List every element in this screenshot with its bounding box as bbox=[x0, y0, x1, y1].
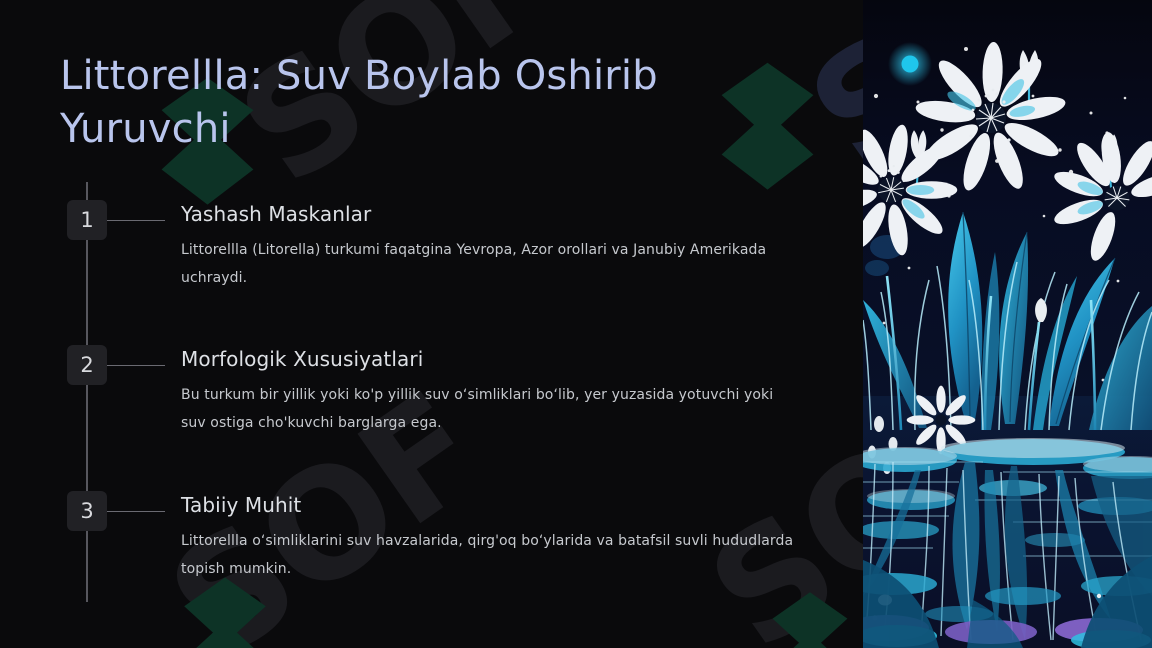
timeline-item-body: Yashash Maskanlar Littorellla (Litorella… bbox=[181, 200, 821, 292]
timeline-item-body: Tabiiy Muhit Littorellla o‘simliklarini … bbox=[181, 491, 821, 583]
slide-content: Littorellla: Suv Boylab Oshirib Yuruvchi… bbox=[0, 0, 863, 648]
timeline-item-text: Littorellla o‘simliklarini suv havzalari… bbox=[181, 527, 801, 583]
step-number-badge: 1 bbox=[67, 200, 107, 240]
flower-artwork-image bbox=[863, 0, 1152, 648]
timeline-connector-line bbox=[107, 220, 165, 221]
timeline-vertical-line bbox=[86, 182, 88, 602]
page-title: Littorellla: Suv Boylab Oshirib Yuruvchi bbox=[60, 50, 760, 156]
slide-root: SOF SOF SOF SOF Littorellla: Suv Bo bbox=[0, 0, 1152, 648]
step-number-badge: 2 bbox=[67, 345, 107, 385]
timeline-connector-line bbox=[107, 511, 165, 512]
step-number-badge: 3 bbox=[67, 491, 107, 531]
timeline-item-heading: Yashash Maskanlar bbox=[181, 200, 821, 228]
timeline-item-text: Bu turkum bir yillik yoki ko'p yillik su… bbox=[181, 381, 801, 437]
timeline-item-heading: Tabiiy Muhit bbox=[181, 491, 821, 519]
timeline-item-heading: Morfologik Xususiyatlari bbox=[181, 345, 821, 373]
timeline-connector-line bbox=[107, 365, 165, 366]
timeline-item-body: Morfologik Xususiyatlari Bu turkum bir y… bbox=[181, 345, 821, 437]
timeline-item-text: Littorellla (Litorella) turkumi faqatgin… bbox=[181, 236, 801, 292]
